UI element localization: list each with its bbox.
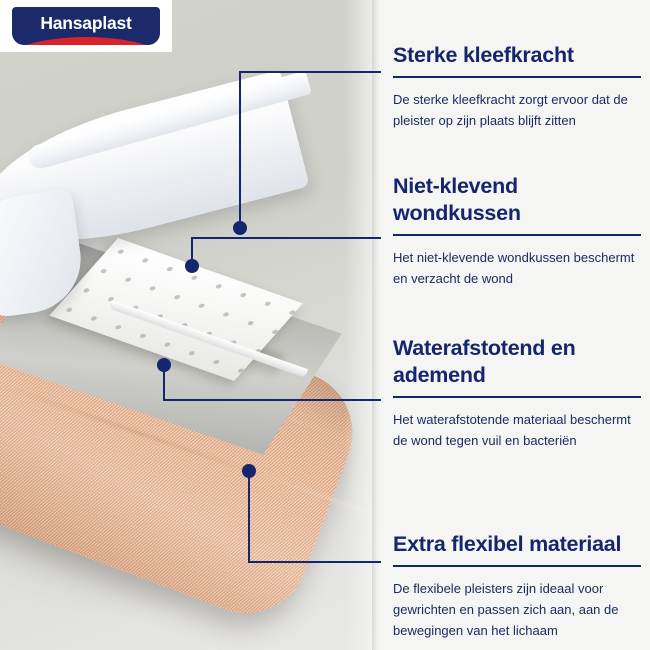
feature-sterke-kleefkracht: Sterke kleefkracht De sterke kleefkracht… xyxy=(393,42,641,131)
panel-divider xyxy=(372,0,381,650)
feature-4-title-line-1: Extra flexibel materiaal xyxy=(393,531,641,558)
feature-3-title: Waterafstotend en ademend xyxy=(393,335,641,389)
feature-1-title: Sterke kleefkracht xyxy=(393,42,641,69)
feature-1-body: De sterke kleefkracht zorgt ervoor dat d… xyxy=(393,89,641,131)
brand-logo: Hansaplast xyxy=(0,0,172,52)
feature-2-body: Het niet-klevende wondkussen beschermt e… xyxy=(393,247,641,289)
feature-3-title-line-2: ademend xyxy=(393,362,641,389)
connector-4-vertical xyxy=(248,472,250,563)
infographic-root: Hansaplast Sterke kleefkracht De sterke … xyxy=(0,0,650,650)
connector-1-horizontal xyxy=(239,71,394,73)
callout-dot-1 xyxy=(233,221,247,235)
feature-1-rule xyxy=(393,76,641,78)
product-photo xyxy=(0,0,380,650)
feature-4-body: De flexibele pleisters zijn ideaal voor … xyxy=(393,578,641,641)
connector-4-horizontal xyxy=(248,561,394,563)
feature-4-rule xyxy=(393,565,641,567)
feature-2-rule xyxy=(393,234,641,236)
connector-1-vertical xyxy=(239,72,241,228)
feature-extra-flexibel-materiaal: Extra flexibel materiaal De flexibele pl… xyxy=(393,531,641,641)
feature-1-title-line-1: Sterke kleefkracht xyxy=(393,42,641,69)
callout-dot-3 xyxy=(157,358,171,372)
connector-3-horizontal xyxy=(163,399,394,401)
logo-shield: Hansaplast xyxy=(12,7,160,45)
feature-3-rule xyxy=(393,396,641,398)
feature-2-title-line-1: Niet-klevend xyxy=(393,173,641,200)
feature-niet-klevend-wondkussen: Niet-klevend wondkussen Het niet-klevend… xyxy=(393,173,641,289)
logo-wordmark: Hansaplast xyxy=(40,13,131,34)
feature-2-title-line-2: wondkussen xyxy=(393,200,641,227)
feature-3-body: Het waterafstotende materiaal beschermt … xyxy=(393,409,641,451)
callout-dot-4 xyxy=(242,464,256,478)
feature-3-title-line-1: Waterafstotend en xyxy=(393,335,641,362)
connector-2-horizontal xyxy=(191,237,394,239)
logo-red-swoosh xyxy=(12,37,160,45)
features-panel: Sterke kleefkracht De sterke kleefkracht… xyxy=(381,0,650,650)
feature-waterafstotend-en-ademend: Waterafstotend en ademend Het waterafsto… xyxy=(393,335,641,451)
callout-dot-2 xyxy=(185,259,199,273)
feature-2-title: Niet-klevend wondkussen xyxy=(393,173,641,227)
feature-4-title: Extra flexibel materiaal xyxy=(393,531,641,558)
